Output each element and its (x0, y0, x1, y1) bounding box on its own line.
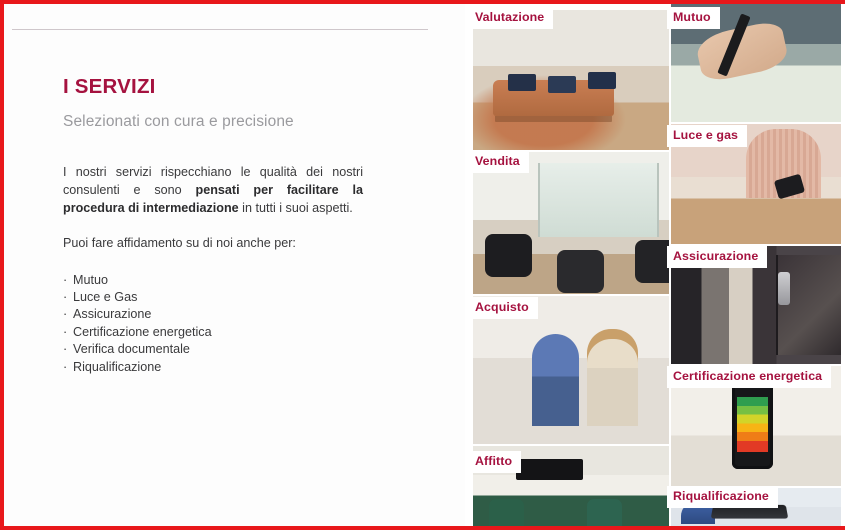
paragraph-tail: in tutti i suoi aspetti. (239, 201, 353, 215)
bullet-icon: · (63, 341, 67, 358)
photo-valutazione (473, 10, 669, 150)
list-item: ·Certificazione energetica (63, 324, 363, 341)
page-subtitle: Selezionati con cura e precisione (63, 113, 363, 132)
list-item-label: Luce e Gas (73, 290, 137, 304)
editorial-column: I SERVIZI Selezionati con cura e precisi… (4, 4, 465, 526)
photo-tile-vendita[interactable] (473, 152, 669, 294)
tile-label-certificazione-energetica: Certificazione energetica (667, 366, 831, 388)
services-list: ·Mutuo ·Luce e Gas ·Assicurazione ·Certi… (63, 272, 363, 376)
list-item: ·Assicurazione (63, 306, 363, 323)
services-intro-line: Puoi fare affidamento su di noi anche pe… (63, 235, 363, 253)
list-item: ·Verifica documentale (63, 341, 363, 358)
tile-label-vendita: Vendita (469, 151, 529, 173)
bullet-icon: · (63, 359, 67, 376)
list-item-label: Certificazione energetica (73, 325, 212, 339)
tile-label-riqualificazione: Riqualificazione (667, 486, 778, 508)
tile-label-valutazione: Valutazione (469, 7, 553, 29)
bullet-icon: · (63, 324, 67, 341)
header-divider (12, 29, 428, 30)
tile-label-acquisto: Acquisto (469, 297, 538, 319)
brochure-page: I SERVIZI Selezionati con cura e precisi… (0, 0, 845, 530)
bullet-icon: · (63, 289, 67, 306)
list-item-label: Mutuo (73, 273, 108, 287)
list-item: ·Luce e Gas (63, 289, 363, 306)
photo-vendita (473, 152, 669, 294)
list-item-label: Riqualificazione (73, 360, 161, 374)
page-title: I SERVIZI (63, 76, 363, 99)
services-text-block: I SERVIZI Selezionati con cura e precisi… (63, 76, 363, 376)
intro-paragraph: I nostri servizi rispecchiano le qualità… (63, 164, 363, 218)
photo-tile-valutazione[interactable] (473, 10, 669, 150)
list-item-label: Assicurazione (73, 307, 151, 321)
list-item: ·Mutuo (63, 272, 363, 289)
list-item: ·Riqualificazione (63, 359, 363, 376)
list-item-label: Verifica documentale (73, 342, 190, 356)
tile-label-luce-e-gas: Luce e gas (667, 125, 747, 147)
services-photo-mosaic: Valutazione Vendita Acquisto Affitto Mut… (469, 4, 845, 526)
tile-label-assicurazione: Assicurazione (667, 246, 767, 268)
bullet-icon: · (63, 272, 67, 289)
bullet-icon: · (63, 306, 67, 323)
tile-label-mutuo: Mutuo (667, 7, 720, 29)
tile-label-affitto: Affitto (469, 451, 521, 473)
